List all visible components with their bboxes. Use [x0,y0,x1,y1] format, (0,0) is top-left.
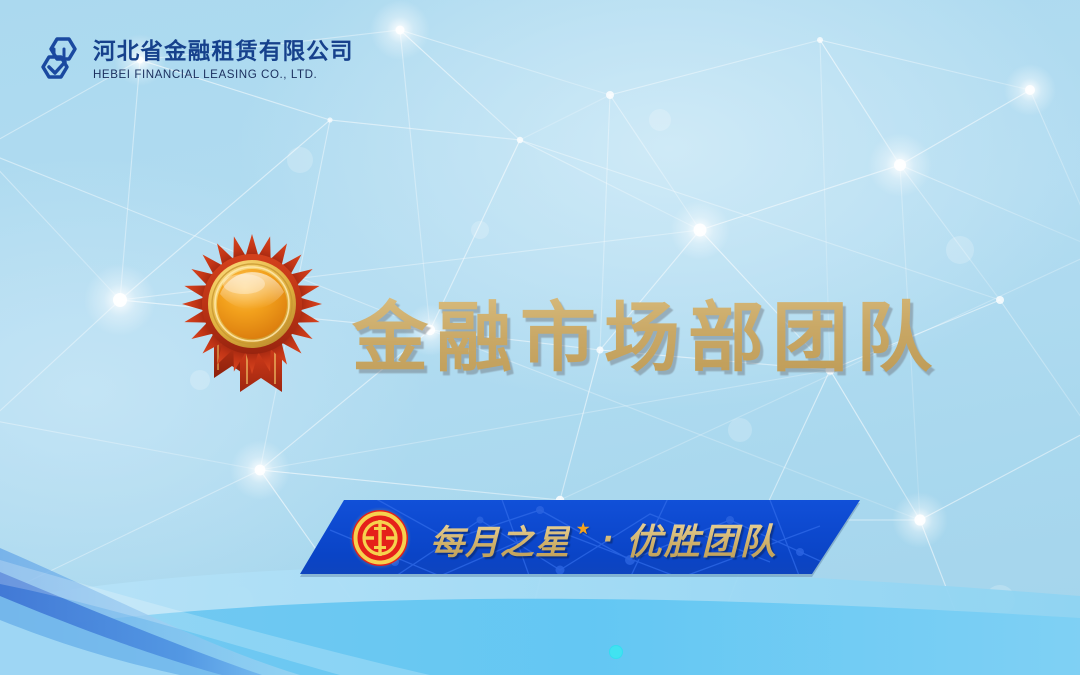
banner-separator: · [602,522,613,557]
award-banner: 每月之星 ★ · 优胜团队 [300,500,860,578]
company-name-en: HEBEI FINANCIAL LEASING CO., LTD. [93,69,354,81]
hebei-financial-leasing-logo-mark-icon [34,34,84,86]
award-rosette-icon [178,228,326,398]
banner-phrase-monthly-star: 每月之星 [430,515,570,564]
poster-canvas: 河北省金融租赁有限公司 HEBEI FINANCIAL LEASING CO.,… [0,0,1080,675]
star-icon: ★ [576,519,590,538]
company-name-cn: 河北省金融租赁有限公司 [93,41,354,64]
acftu-union-emblem-icon [348,506,412,570]
company-logo: 河北省金融租赁有限公司 HEBEI FINANCIAL LEASING CO.,… [34,34,354,86]
page-title: 金融市场部团队 [352,276,940,386]
banner-phrase-winning-team: 优胜团队 [626,513,778,565]
